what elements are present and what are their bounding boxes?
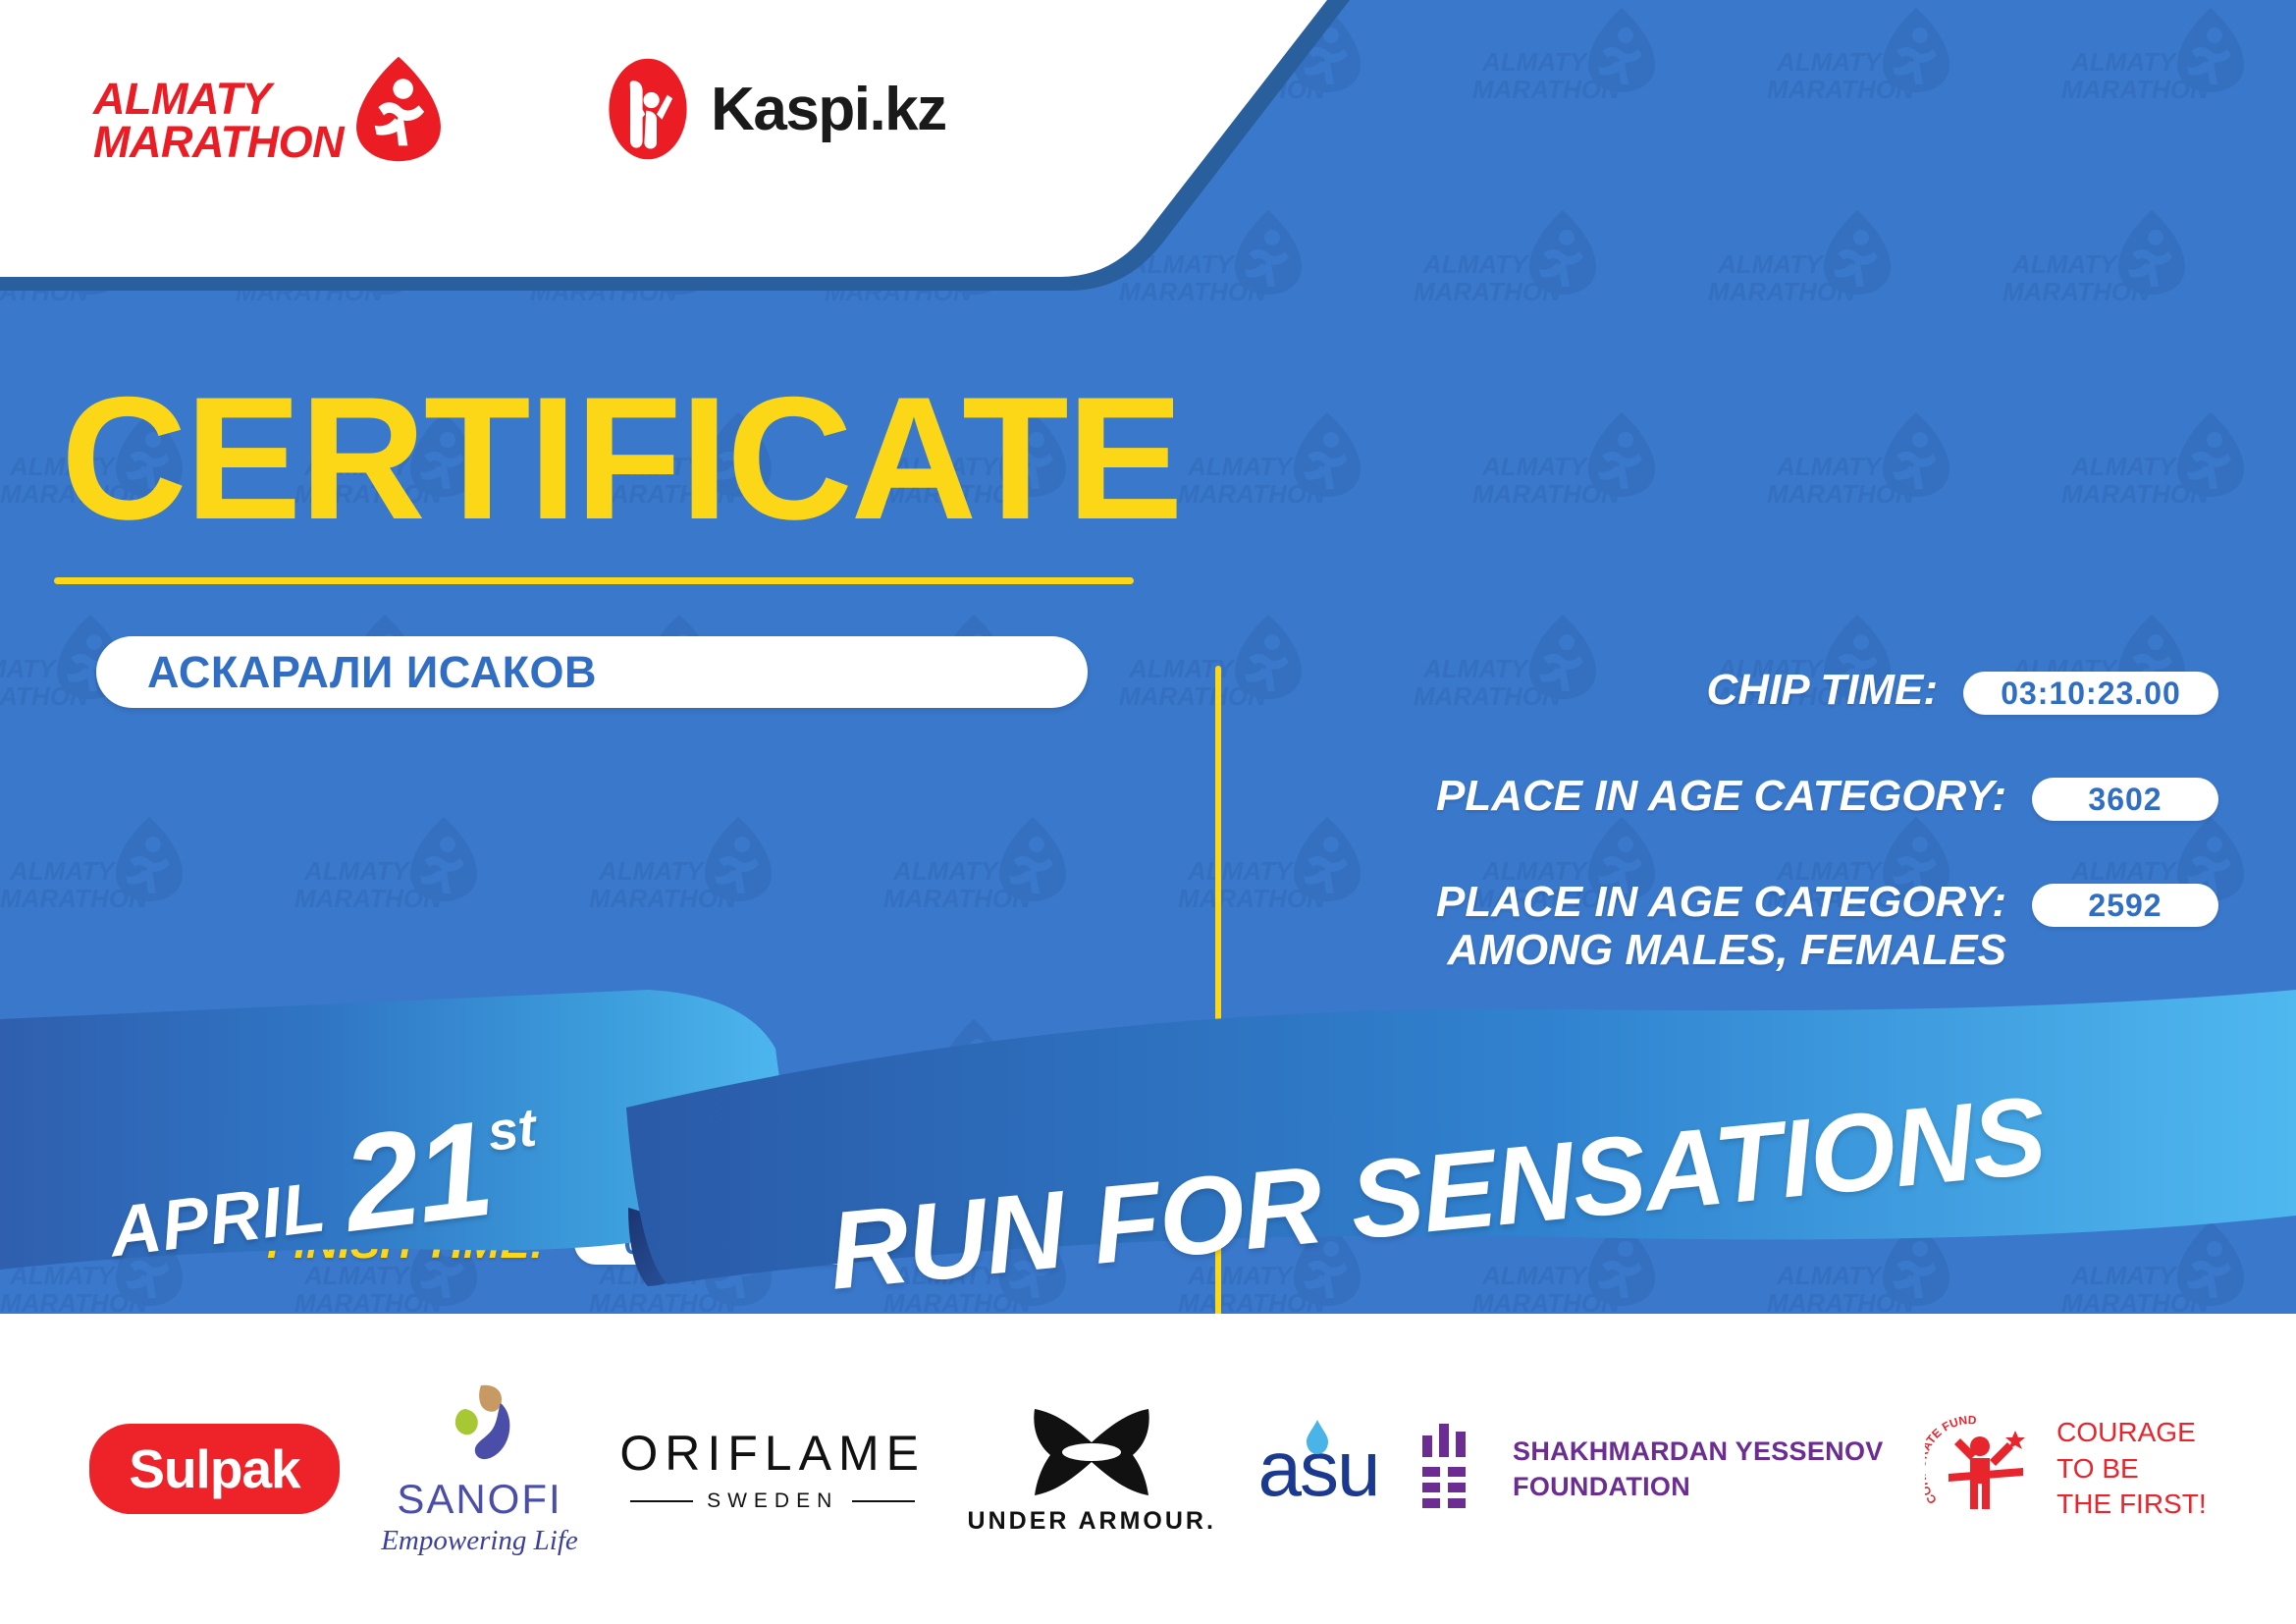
- sponsor-sanofi: SANOFI Empowering Life: [381, 1381, 578, 1557]
- courage-line-1: COURAGE: [2056, 1415, 2206, 1450]
- svg-text:MARATHON: MARATHON: [1767, 75, 1915, 104]
- svg-text:MARATHON: MARATHON: [2061, 75, 2210, 104]
- yessenov-line-2: FOUNDATION: [1513, 1469, 1884, 1504]
- svg-text:CORPORATE FUND: CORPORATE FUND: [1925, 1413, 1977, 1506]
- courage-line-2: TO BE: [2056, 1451, 2206, 1487]
- stat-label: CHIP TIME:: [1276, 666, 1963, 714]
- oriflame-tagline: SWEDEN: [707, 1489, 838, 1513]
- event-month: APRIL: [106, 1171, 330, 1268]
- watermark-tile: ALMATYMARATHON: [1767, 0, 1963, 157]
- sponsor-bar: Sulpak SANOFI Empowering Life ORIFLAME S…: [0, 1314, 2296, 1624]
- yessenov-bars-icon: [1420, 1422, 1491, 1516]
- oriflame-rule-left: [630, 1500, 693, 1502]
- under-armour-label: UNDER ARMOUR.: [968, 1507, 1216, 1536]
- yessenov-label: SHAKHMARDAN YESSENOV FOUNDATION: [1513, 1434, 1884, 1505]
- stat-row: PLACE IN AGE CATEGORY:AMONG MALES, FEMAL…: [1276, 878, 2218, 975]
- stat-label: PLACE IN AGE CATEGORY:: [1276, 772, 2032, 820]
- oriflame-label: ORIFLAME: [619, 1425, 926, 1482]
- sponsor-sulpak: Sulpak: [89, 1424, 339, 1514]
- almaty-marathon-logo: ALMATY MARATHON: [93, 54, 446, 164]
- event-day-suffix: st: [485, 1100, 539, 1160]
- stat-row: PLACE IN AGE CATEGORY:3602: [1276, 772, 2218, 821]
- sanofi-label: SANOFI: [397, 1476, 561, 1523]
- stat-label: PLACE IN AGE CATEGORY:AMONG MALES, FEMAL…: [1276, 878, 2032, 975]
- almaty-line-2: MARATHON: [93, 121, 344, 164]
- watermark-tile: ALMATYMARATHON: [1472, 0, 1669, 157]
- almaty-marathon-runner-icon: [351, 54, 446, 164]
- asu-droplet-icon: [1303, 1420, 1332, 1455]
- stat-value: 3602: [2032, 778, 2218, 821]
- yessenov-line-1: SHAKHMARDAN YESSENOV: [1513, 1434, 1884, 1469]
- courage-line-3: THE FIRST!: [2056, 1487, 2206, 1522]
- oriflame-sub: SWEDEN: [630, 1489, 915, 1513]
- kaspi-person-icon: [603, 56, 693, 162]
- stat-value: 2592: [2032, 884, 2218, 927]
- svg-text:ALMATY: ALMATY: [2011, 249, 2119, 279]
- sulpak-logo: Sulpak: [89, 1424, 339, 1514]
- sponsor-courage-to-be-the-first: CORPORATE FUND COURAGE TO BE THE FIRST!: [1925, 1411, 2206, 1527]
- certificate-canvas: ALMATYMARATHONALMATYMARATHONALMATYMARATH…: [0, 0, 2296, 1624]
- header-logos: ALMATY MARATHON Kaspi.kz: [93, 54, 946, 164]
- page-title: CERTIFICATE: [61, 371, 1182, 546]
- sponsor-under-armour: UNDER ARMOUR.: [968, 1403, 1216, 1536]
- kaspi-logo: Kaspi.kz: [603, 56, 946, 162]
- oriflame-rule-right: [852, 1500, 915, 1502]
- stat-value: 03:10:23.00: [1963, 672, 2218, 715]
- sponsor-oriflame: ORIFLAME SWEDEN: [619, 1425, 926, 1513]
- sanofi-mark-icon: [436, 1381, 524, 1472]
- under-armour-icon: [1023, 1403, 1160, 1501]
- courage-runner-icon: CORPORATE FUND: [1925, 1411, 2041, 1527]
- kaspi-wordmark: Kaspi.kz: [711, 75, 946, 144]
- svg-text:ALMATY: ALMATY: [1776, 47, 1884, 77]
- participant-name-value: АСКАРАЛИ ИСАКОВ: [147, 647, 597, 698]
- sanofi-tagline: Empowering Life: [381, 1525, 578, 1557]
- event-day: 21: [337, 1101, 497, 1253]
- svg-text:MARATHON: MARATHON: [1472, 75, 1621, 104]
- svg-text:ALMATY: ALMATY: [1422, 249, 1530, 279]
- courage-label: COURAGE TO BE THE FIRST!: [2056, 1415, 2206, 1522]
- svg-text:ALMATY: ALMATY: [2070, 47, 2178, 77]
- stat-row: CHIP TIME:03:10:23.00: [1276, 666, 2218, 715]
- almaty-line-1: ALMATY: [93, 78, 344, 121]
- sponsor-yessenov-foundation: SHAKHMARDAN YESSENOV FOUNDATION: [1420, 1422, 1884, 1516]
- sulpak-label: Sulpak: [129, 1438, 299, 1499]
- sponsor-asu: asu: [1257, 1424, 1378, 1514]
- title-underline: [54, 577, 1134, 584]
- svg-text:ALMATY: ALMATY: [1717, 249, 1825, 279]
- svg-text:ALMATY: ALMATY: [1481, 47, 1589, 77]
- almaty-marathon-wordmark: ALMATY MARATHON: [93, 78, 344, 164]
- watermark-tile: ALMATYMARATHON: [2061, 0, 2258, 157]
- participant-name-field: АСКАРАЛИ ИСАКОВ: [96, 636, 1088, 708]
